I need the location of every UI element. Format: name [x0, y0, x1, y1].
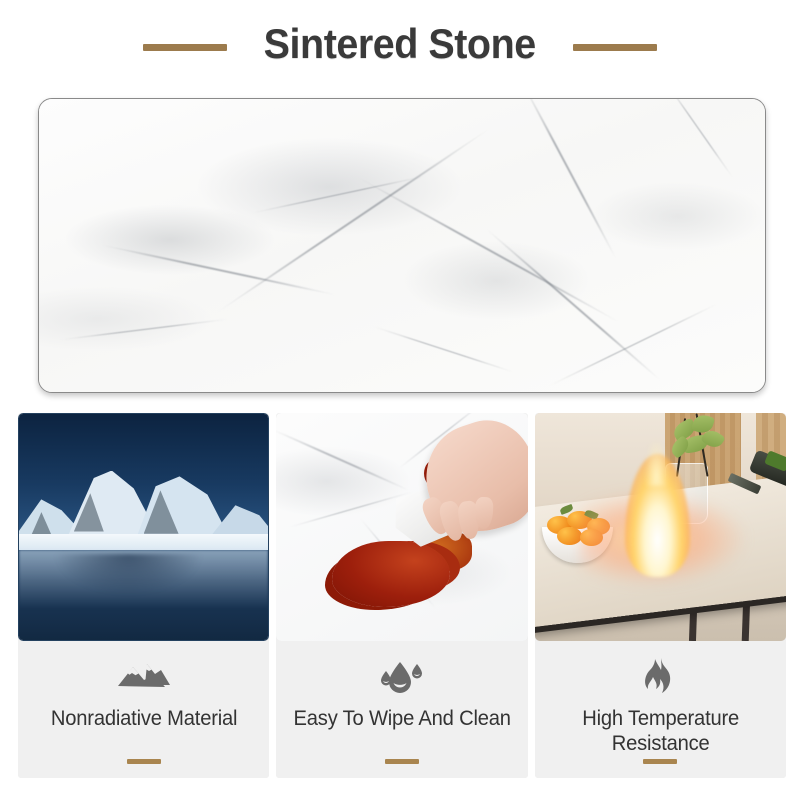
page-title: Sintered Stone — [264, 23, 536, 65]
feature-card-nonradiative[interactable]: Nonradiative Material — [18, 413, 269, 778]
title-rule-right — [573, 44, 657, 51]
feature-dash — [385, 759, 419, 764]
title-rule-left — [143, 44, 227, 51]
red-liquid-spill — [332, 541, 450, 607]
feature-caption: Easy To Wipe And Clean — [276, 641, 527, 778]
marble-vein — [289, 491, 414, 528]
flame-tip — [645, 440, 668, 486]
feature-label: High Temperature Resistance — [540, 707, 781, 757]
feature-photo-mountains — [18, 413, 269, 641]
feature-dash — [127, 759, 161, 764]
feature-label: Nonradiative Material — [45, 707, 243, 732]
feature-card-easy-clean[interactable]: Easy To Wipe And Clean — [276, 413, 527, 778]
feature-dash — [643, 759, 677, 764]
feature-caption: Nonradiative Material — [18, 641, 269, 778]
water-reflection-shadow — [54, 554, 204, 595]
feature-card-heat-resistance[interactable]: High Temperature Resistance — [535, 413, 786, 778]
page-header: Sintered Stone — [0, 0, 800, 88]
feature-label: Easy To Wipe And Clean — [288, 707, 517, 732]
feature-photo-wipe — [276, 413, 527, 641]
marble-texture — [39, 99, 765, 392]
feature-caption: High Temperature Resistance — [535, 641, 786, 778]
water-droplets-icon — [378, 655, 426, 699]
flame-icon — [641, 655, 679, 699]
feature-card-list: Nonradiative Material — [18, 413, 786, 778]
ice-shelf — [19, 534, 268, 550]
marble-vein — [276, 429, 410, 491]
feature-photo-flame — [535, 413, 786, 641]
hero-stone-slab — [38, 98, 766, 393]
mountains-icon — [117, 655, 171, 699]
